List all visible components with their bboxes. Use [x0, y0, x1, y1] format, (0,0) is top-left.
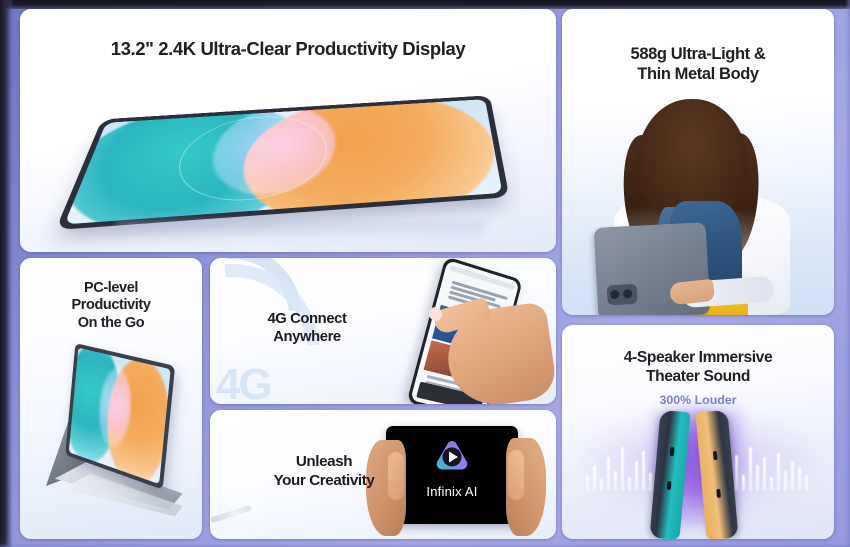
- panel-sound-subheading: 300% Louder: [562, 393, 834, 407]
- frame-edge-bottom: [0, 543, 850, 547]
- tablet-screen: [64, 99, 502, 224]
- panel-pc-heading: PC-level Productivity On the Go: [20, 280, 202, 332]
- speaker-port-icon: [667, 481, 672, 490]
- panel-pc-level-productivity[interactable]: PC-level Productivity On the Go: [20, 258, 202, 539]
- right-thumb: [508, 450, 524, 500]
- feature-collage: 13.2" 2.4K Ultra-Clear Productivity Disp…: [0, 0, 850, 547]
- panel-ai-heading: Unleash Your Creativity: [244, 452, 404, 490]
- frame-edge-left: [0, 0, 13, 547]
- speaker-port-icon: [713, 451, 718, 460]
- two-tablets-sound-waves-image: [562, 409, 834, 539]
- panel-weight-heading: 588g Ultra-Light & Thin Metal Body: [562, 45, 834, 85]
- tablet-frame: [55, 95, 509, 230]
- speaker-port-icon: [670, 447, 675, 456]
- panel-display-heading: 13.2" 2.4K Ultra-Clear Productivity Disp…: [20, 38, 556, 60]
- panel-ultra-light-body[interactable]: 588g Ultra-Light & Thin Metal Body: [562, 9, 834, 315]
- panel-4g-connect[interactable]: 4G 4G Connect Anywhere: [210, 258, 556, 404]
- tablet-angled-hero-image: [84, 81, 504, 231]
- tablet-teal-edge: [649, 410, 690, 539]
- speaker-port-icon: [716, 489, 721, 498]
- frame-edge-right: [845, 0, 850, 547]
- panel-unleash-creativity[interactable]: Unleash Your Creativity: [210, 410, 556, 539]
- panel-speaker-sound[interactable]: 4-Speaker Immersive Theater Sound 300% L…: [562, 325, 834, 539]
- frame-edge-top: [0, 0, 850, 9]
- panel-4g-heading: 4G Connect Anywhere: [222, 310, 392, 347]
- panel-sound-heading: 4-Speaker Immersive Theater Sound: [562, 349, 834, 386]
- 4g-watermark-text: 4G: [216, 360, 271, 404]
- tablet-gold-edge: [695, 410, 738, 539]
- tablet-keyboard-stand-image: [42, 350, 192, 530]
- camera-module-icon: [607, 284, 638, 306]
- hand-touching-tablet-image: [396, 264, 546, 404]
- hair-top: [636, 99, 748, 217]
- woman-holding-tablet-image: [562, 83, 834, 315]
- infinix-ai-logo-icon: [432, 438, 472, 478]
- panel-ultra-clear-display[interactable]: 13.2" 2.4K Ultra-Clear Productivity Disp…: [20, 9, 556, 252]
- tablet-reflection: [111, 221, 487, 243]
